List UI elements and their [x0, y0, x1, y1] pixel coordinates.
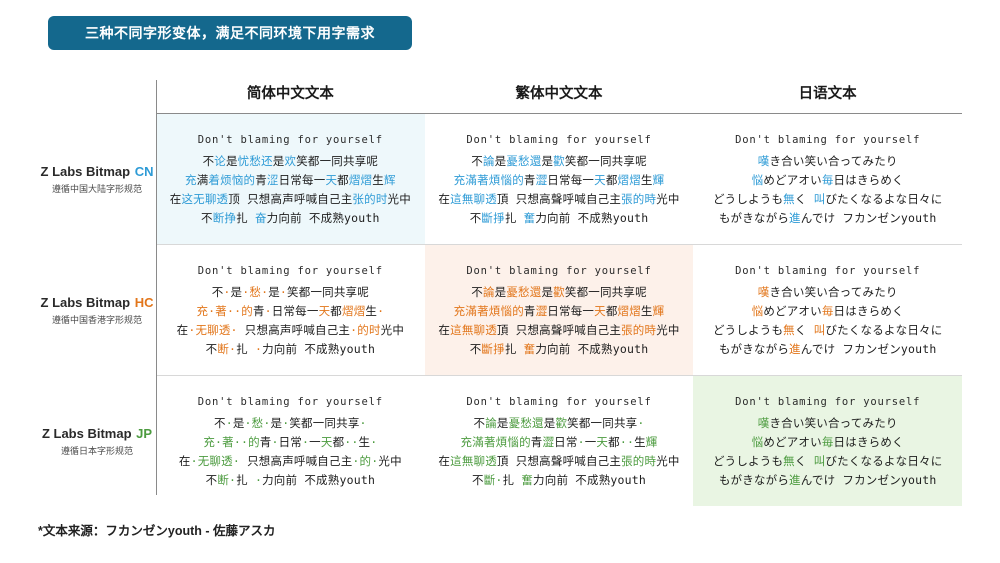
sample-line: 不論是憂愁還是歡笑都一同共享呢 — [471, 152, 647, 171]
sample-line: 充滿著煩惱的青澀日常每一天都熠熠生輝 — [454, 171, 665, 190]
row-label-hc: Z Labs Bitmap HC 遵循中国香港字形规范 — [38, 245, 156, 375]
sample-line: 不斷·扎 奮力向前 不成熟youth — [472, 471, 646, 490]
sample-line: 充·著··的青·日常每一天都熠熠生· — [196, 302, 384, 321]
sample-line: もがきながら進んでけ フカンゼンyouth — [719, 471, 937, 490]
sample-line: 在這無聊透頂 只想高聲呼喊自己主張的時光中 — [438, 452, 679, 471]
sample-line: 嘆き合い笑い合ってみたり — [758, 414, 898, 433]
table-row: Z Labs Bitmap HC 遵循中国香港字形规范 Don't blamin… — [38, 245, 962, 375]
sample-cell-jp-japanese: Don't blaming for yourself 嘆き合い笑い合ってみたり … — [693, 376, 962, 506]
sample-line: 在這無聊透頂 只想高聲呼喊自己主張的時光中 — [438, 321, 679, 340]
sample-line: 不斷掙扎 奮力向前 不成熟youth — [470, 340, 649, 359]
sample-line: Don't blaming for yourself — [466, 262, 651, 281]
sample-line: 不·是·愁·是·笑都一同共享· — [214, 414, 367, 433]
row-label-suffix: JP — [136, 426, 152, 441]
footnote-text: *文本来源：フカンゼンyouth - 佐藤アスカ — [38, 520, 276, 539]
row-label-sublabel: 遵循日本字形规范 — [61, 444, 133, 457]
sample-line: もがきながら進んでけ フカンゼンyouth — [719, 209, 937, 228]
row-label-prefix: Z Labs Bitmap — [41, 164, 134, 179]
sample-line: Don't blaming for yourself — [466, 393, 651, 412]
sample-line: Don't blaming for yourself — [198, 262, 383, 281]
sample-line: 悩めどアオい毎日はきらめく — [752, 302, 904, 321]
sample-line: どうしようも無く 叫びたくなるよな日々に — [713, 190, 942, 209]
header-corner-cell — [38, 80, 156, 113]
font-specimen-table: 简体中文文本 繁体中文文本 日语文本 Z Labs Bitmap CN 遵循中国… — [38, 80, 962, 506]
sample-cell-cn-simplified: Don't blaming for yourself 不论是忧愁还是欢笑都一同共… — [156, 114, 425, 244]
table-row: Z Labs Bitmap CN 遵循中国大陆字形规范 Don't blamin… — [38, 114, 962, 244]
sample-line: 不断·扎 ·力向前 不成熟youth — [206, 471, 375, 490]
sample-line: Don't blaming for yourself — [735, 262, 920, 281]
sample-line: 不論是憂愁還是歡笑都一同共享· — [474, 414, 645, 433]
column-header-japanese: 日语文本 — [693, 80, 962, 113]
sample-line: 在這無聊透頂 只想高聲呼喊自己主張的時光中 — [438, 190, 679, 209]
row-label-prefix: Z Labs Bitmap — [42, 426, 135, 441]
sample-line: Don't blaming for yourself — [198, 393, 383, 412]
sample-line: Don't blaming for yourself — [466, 131, 651, 150]
sample-line: 充满着烦恼的青涩日常每一天都熠熠生辉 — [185, 171, 396, 190]
table-header-row: 简体中文文本 繁体中文文本 日语文本 — [38, 80, 962, 113]
sample-line: 不断·扎 ·力向前 不成熟youth — [206, 340, 375, 359]
sample-line: 充滿著煩惱的青澀日常每一天都熠熠生輝 — [454, 302, 665, 321]
table-row: Z Labs Bitmap JP 遵循日本字形规范 Don't blaming … — [38, 376, 962, 506]
sample-line: 嘆き合い笑い合ってみたり — [758, 152, 898, 171]
sample-line: 不论是忧愁还是欢笑都一同共享呢 — [203, 152, 379, 171]
sample-cell-hc-japanese: Don't blaming for yourself 嘆き合い笑い合ってみたり … — [693, 245, 962, 375]
column-header-traditional: 繁体中文文本 — [425, 80, 694, 113]
sample-line: 在这无聊透顶 只想高声呼喊自己主张的时光中 — [170, 190, 411, 209]
sample-line: 悩めどアオい毎日はきらめく — [752, 433, 904, 452]
sample-line: 悩めどアオい毎日はきらめく — [752, 171, 904, 190]
label-column-divider — [156, 80, 157, 495]
sample-line: もがきながら進んでけ フカンゼンyouth — [719, 340, 937, 359]
column-header-simplified: 简体中文文本 — [156, 80, 425, 113]
sample-cell-jp-simplified: Don't blaming for yourself 不·是·愁·是·笑都一同共… — [156, 376, 425, 506]
sample-line: 在·无聊透· 只想高声呼喊自己主·的时光中 — [177, 321, 404, 340]
sample-line: 嘆き合い笑い合ってみたり — [758, 283, 898, 302]
row-label-suffix: HC — [135, 295, 154, 310]
sample-cell-hc-traditional: Don't blaming for yourself 不論是憂愁還是歡笑都一同共… — [425, 245, 694, 375]
sample-line: 不斷掙扎 奮力向前 不成熟youth — [470, 209, 649, 228]
sample-line: 充·著··的青·日常·一天都··生· — [203, 433, 377, 452]
row-label-sublabel: 遵循中国香港字形规范 — [52, 313, 142, 326]
row-label-jp: Z Labs Bitmap JP 遵循日本字形规范 — [38, 376, 156, 506]
sample-line: 充滿著煩惱的青澀日常·一天都··生輝 — [461, 433, 658, 452]
sample-cell-hc-simplified: Don't blaming for yourself 不·是·愁·是·笑都一同共… — [156, 245, 425, 375]
sample-cell-cn-japanese: Don't blaming for yourself 嘆き合い笑い合ってみたり … — [693, 114, 962, 244]
sample-cell-cn-traditional: Don't blaming for yourself 不論是憂愁還是歡笑都一同共… — [425, 114, 694, 244]
sample-line: Don't blaming for yourself — [198, 131, 383, 150]
sample-line: 不·是·愁·是·笑都一同共享呢 — [212, 283, 369, 302]
row-label-cn: Z Labs Bitmap CN 遵循中国大陆字形规范 — [38, 114, 156, 244]
row-label-name: Z Labs Bitmap JP — [42, 426, 152, 441]
row-label-prefix: Z Labs Bitmap — [41, 295, 134, 310]
sample-line: どうしようも無く 叫びたくなるよな日々に — [713, 321, 942, 340]
row-label-suffix: CN — [135, 164, 154, 179]
row-label-name: Z Labs Bitmap HC — [41, 295, 154, 310]
row-label-sublabel: 遵循中国大陆字形规范 — [52, 182, 142, 195]
title-text: 三种不同字形变体，满足不同环境下用字需求 — [85, 23, 375, 43]
sample-line: Don't blaming for yourself — [735, 393, 920, 412]
sample-line: 不断挣扎 奋力向前 不成熟youth — [201, 209, 380, 228]
sample-line: Don't blaming for yourself — [735, 131, 920, 150]
row-label-name: Z Labs Bitmap CN — [41, 164, 154, 179]
sample-cell-jp-traditional: Don't blaming for yourself 不論是憂愁還是歡笑都一同共… — [425, 376, 694, 506]
sample-line: どうしようも無く 叫びたくなるよな日々に — [713, 452, 942, 471]
sample-line: 不論是憂愁還是歡笑都一同共享呢 — [471, 283, 647, 302]
title-banner: 三种不同字形变体，满足不同环境下用字需求 — [48, 16, 412, 50]
sample-line: 在·无聊透· 只想高声呼喊自己主·的·光中 — [179, 452, 402, 471]
